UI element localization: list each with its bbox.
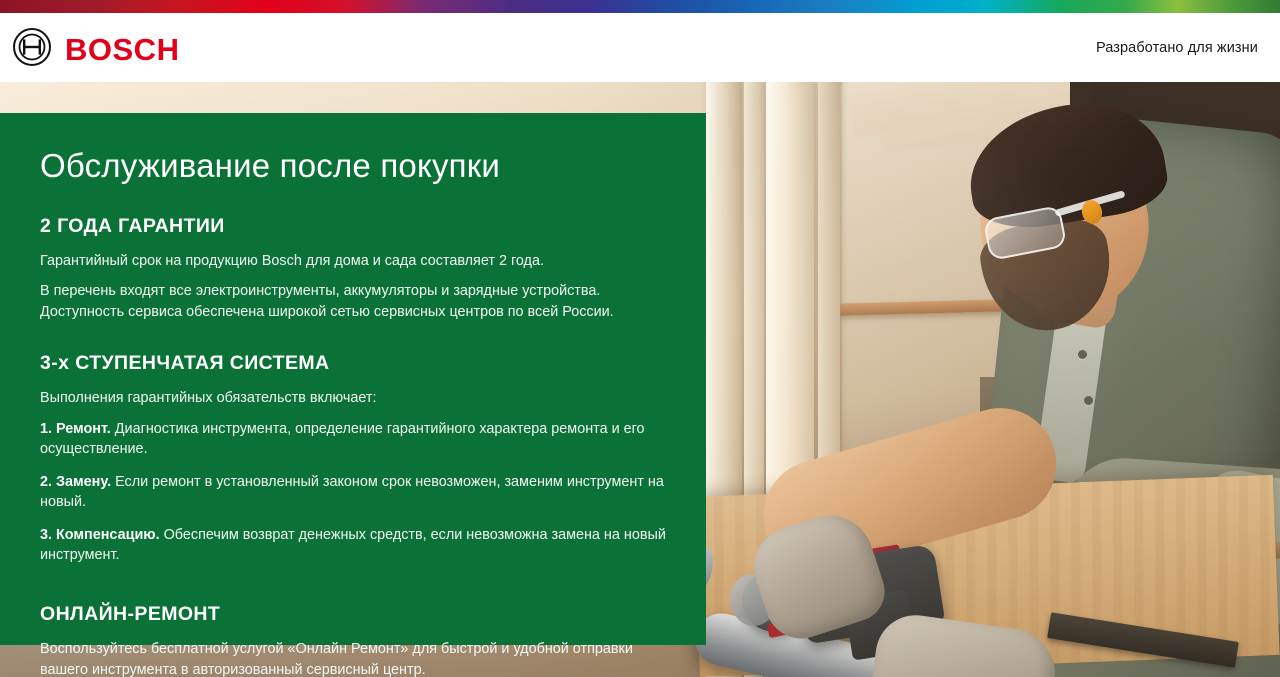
three-step-item-label: 1. Ремонт.: [40, 421, 111, 437]
site-header: BOSCH Разработано для жизни: [0, 13, 1280, 82]
photo-shirt-button: [1078, 350, 1087, 359]
brand-claim: Разработано для жизни: [1096, 40, 1258, 56]
bosch-wordmark: BOSCH: [65, 34, 179, 65]
online-repair-paragraph-1: Воспользуйтесь бесплатной услугой «Онлай…: [40, 639, 666, 677]
warranty-paragraph-2: В перечень входят все электроинструменты…: [40, 281, 666, 322]
after-sales-service-panel: Обслуживание после покупки 2 ГОДА ГАРАНТ…: [0, 113, 706, 645]
page-title: Обслуживание после покупки: [40, 147, 666, 185]
three-step-item: 1. Ремонт. Диагностика инструмента, опре…: [40, 419, 666, 460]
three-step-item: 3. Компенсацию. Обеспечим возврат денежн…: [40, 525, 666, 566]
three-step-intro: Выполнения гарантийных обязательств вклю…: [40, 388, 666, 408]
bosch-armature-icon: [12, 27, 52, 72]
section-heading-online-repair: ОНЛАЙН-РЕМОНТ: [40, 603, 666, 626]
three-step-item: 2. Замену. Если ремонт в установленный з…: [40, 472, 666, 513]
page-root: BOSCH Разработано для жизни: [0, 0, 1280, 677]
photo-shirt-button: [1084, 396, 1093, 405]
section-heading-three-step: 3-х СТУПЕНЧАТАЯ СИСТЕМА: [40, 352, 666, 375]
three-step-item-text: Диагностика инструмента, определение гар…: [40, 421, 645, 457]
bosch-brand-lockup[interactable]: BOSCH: [12, 27, 179, 72]
bosch-supergraphic-bar: [0, 0, 1280, 13]
warranty-paragraph-1: Гарантийный срок на продукцию Bosch для …: [40, 251, 666, 271]
three-step-item-label: 3. Компенсацию.: [40, 527, 160, 543]
section-heading-warranty: 2 ГОДА ГАРАНТИИ: [40, 215, 666, 238]
three-step-item-label: 2. Замену.: [40, 474, 111, 490]
three-step-item-text: Если ремонт в установленный законом срок…: [40, 474, 664, 510]
